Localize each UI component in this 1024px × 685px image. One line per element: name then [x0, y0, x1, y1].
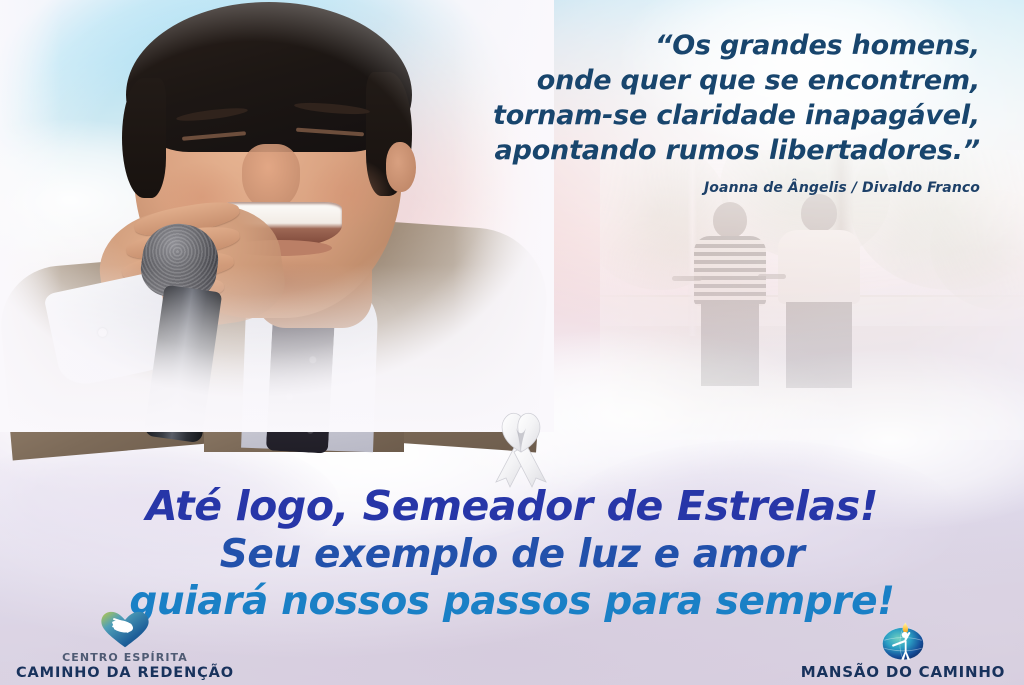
cuff-button: [98, 328, 107, 337]
hair-side-left: [122, 78, 166, 198]
logo-mansao-do-caminho: MANSÃO DO CAMINHO: [788, 622, 1018, 681]
quote-attribution: Joanna de Ângelis / Divaldo Franco: [420, 180, 980, 196]
nose: [242, 144, 300, 210]
quote-block: “Os grandes homens, onde quer que se enc…: [420, 28, 980, 196]
quote-line-4: apontando rumos libertadores.”: [420, 133, 980, 168]
headline-line-2: Seu exemplo de luz e amor: [0, 535, 1024, 574]
quote-line-3: tornam-se claridade inapagável,: [420, 98, 980, 133]
logo-centro-espirita: CENTRO ESPÍRITA CAMINHO DA REDENÇÃO: [10, 610, 240, 681]
headline-line-1: Até logo, Semeador de Estrelas!: [0, 486, 1024, 527]
quote-line-2: onde quer que se encontrem,: [420, 63, 980, 98]
mourning-ribbon-icon: [478, 408, 564, 488]
quote-line-1: “Os grandes homens,: [420, 28, 980, 63]
logo-right-line-2: MANSÃO DO CAMINHO: [788, 663, 1018, 681]
headline-block: Até logo, Semeador de Estrelas! Seu exem…: [0, 486, 1024, 621]
heart-hand-logo-icon: [10, 610, 240, 650]
logo-left-line-2: CAMINHO DA REDENÇÃO: [10, 665, 240, 681]
tribute-banner: “Os grandes homens, onde quer que se enc…: [0, 0, 1024, 685]
logo-left-line-1: CENTRO ESPÍRITA: [10, 651, 240, 664]
globe-torch-logo-icon: [788, 622, 1018, 662]
